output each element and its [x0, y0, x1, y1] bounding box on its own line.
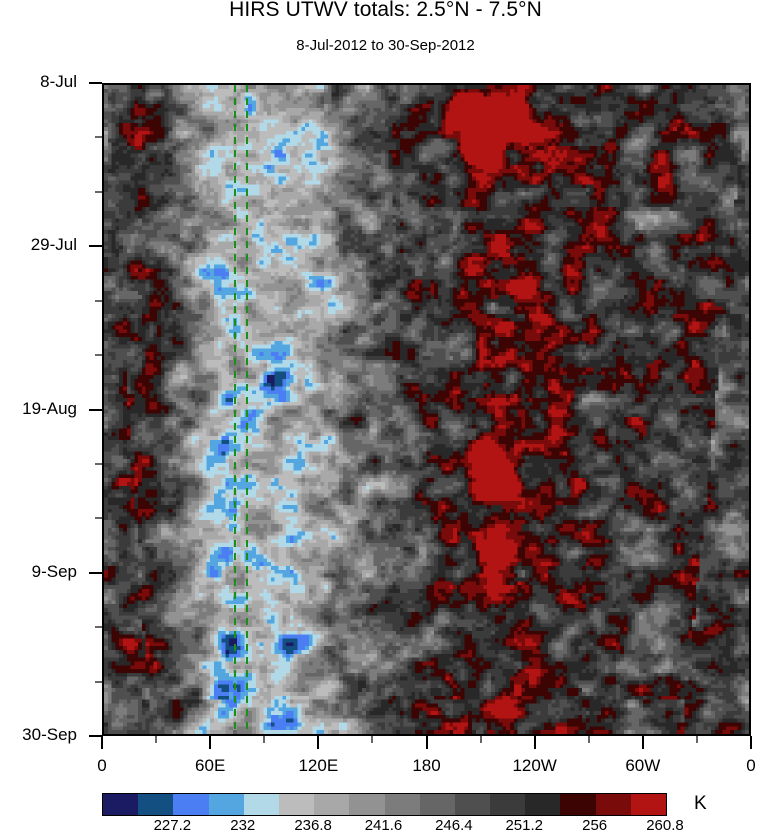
y-tick-minor [95, 300, 102, 302]
colorbar-tick-label-4: 246.4 [419, 817, 489, 834]
colorbar-swatch-15 [631, 794, 666, 815]
colorbar-tick-label-6: 256 [560, 817, 630, 834]
y-tick-major [89, 572, 102, 574]
x-tick-major [317, 736, 319, 749]
x-tick-major [642, 736, 644, 749]
colorbar-tick-label-1: 232 [208, 817, 278, 834]
x-tick-major [534, 736, 536, 749]
colorbar-swatch-5 [279, 794, 314, 815]
y-tick-minor [95, 681, 102, 683]
chart-subtitle: 8-Jul-2012 to 30-Sep-2012 [0, 37, 771, 54]
x-tick-label-2: 120E [278, 756, 358, 776]
y-tick-minor [95, 354, 102, 356]
colorbar-swatch-9 [420, 794, 455, 815]
colorbar-tick-label-0: 227.2 [137, 817, 207, 834]
colorbar-unit-label: K [694, 793, 707, 815]
colorbar-swatch-10 [455, 794, 490, 815]
contour-field [104, 85, 749, 734]
chart-title: HIRS UTWV totals: 2.5°N - 7.5°N [0, 0, 771, 22]
y-tick-minor [95, 463, 102, 465]
x-tick-minor [371, 736, 373, 743]
y-tick-major [89, 245, 102, 247]
x-tick-minor [480, 736, 482, 743]
colorbar-tick-label-3: 241.6 [349, 817, 419, 834]
hovmoller-plot-area [102, 83, 751, 736]
y-tick-minor [95, 517, 102, 519]
x-tick-minor [263, 736, 265, 743]
x-tick-label-4: 120W [495, 756, 575, 776]
colorbar [102, 793, 667, 816]
x-tick-label-6: 0 [711, 756, 771, 776]
green-dashed-line-1 [234, 85, 236, 734]
colorbar-swatch-2 [173, 794, 208, 815]
green-dashed-line-2 [246, 85, 248, 734]
x-tick-major [750, 736, 752, 749]
x-tick-major [209, 736, 211, 749]
colorbar-tick-label-2: 236.8 [278, 817, 348, 834]
y-tick-major [89, 82, 102, 84]
x-tick-label-5: 60W [603, 756, 683, 776]
colorbar-swatch-3 [209, 794, 244, 815]
colorbar-swatch-12 [525, 794, 560, 815]
x-tick-minor [588, 736, 590, 743]
y-tick-minor [95, 136, 102, 138]
colorbar-swatch-7 [349, 794, 384, 815]
x-tick-minor [696, 736, 698, 743]
y-tick-label-1: 29-Jul [0, 235, 77, 255]
y-tick-major [89, 409, 102, 411]
colorbar-swatch-11 [490, 794, 525, 815]
colorbar-swatch-0 [103, 794, 138, 815]
y-tick-label-2: 19-Aug [0, 399, 77, 419]
colorbar-swatch-14 [596, 794, 631, 815]
y-tick-label-3: 9-Sep [0, 562, 77, 582]
x-tick-label-0: 0 [62, 756, 142, 776]
colorbar-swatch-4 [244, 794, 279, 815]
y-tick-minor [95, 626, 102, 628]
x-tick-label-3: 180 [387, 756, 467, 776]
colorbar-tick-label-7: 260.8 [630, 817, 700, 834]
y-tick-label-4: 30-Sep [0, 725, 77, 745]
x-tick-major [426, 736, 428, 749]
colorbar-swatch-13 [560, 794, 595, 815]
y-tick-minor [95, 191, 102, 193]
x-tick-minor [155, 736, 157, 743]
x-tick-major [101, 736, 103, 749]
x-tick-label-1: 60E [170, 756, 250, 776]
colorbar-swatch-1 [138, 794, 173, 815]
colorbar-swatch-8 [385, 794, 420, 815]
colorbar-swatch-6 [314, 794, 349, 815]
colorbar-tick-label-5: 251.2 [489, 817, 559, 834]
y-tick-label-0: 8-Jul [0, 72, 77, 92]
y-tick-major [89, 735, 102, 737]
